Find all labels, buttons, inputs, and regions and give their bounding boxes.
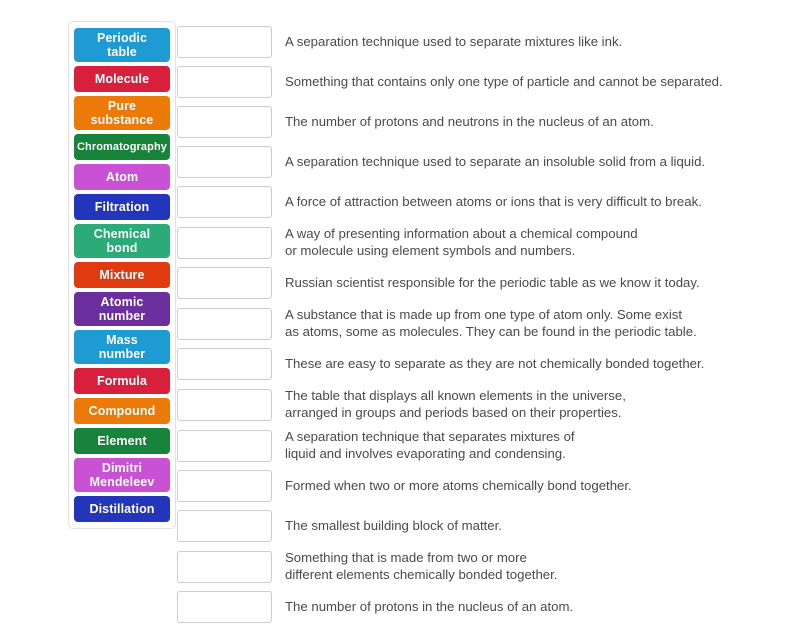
definition-text: A separation technique used to separate … [285, 34, 622, 51]
definition-text: The number of protons and neutrons in th… [285, 114, 654, 131]
definition-row: A substance that is made up from one typ… [177, 307, 777, 340]
answer-tile[interactable]: Atom [74, 164, 170, 190]
definition-text: A force of attraction between atoms or i… [285, 194, 702, 211]
definition-row: A separation technique used to separate … [177, 146, 777, 178]
answer-dropzone[interactable] [177, 430, 272, 462]
definition-row: These are easy to separate as they are n… [177, 348, 777, 380]
answer-tile[interactable]: Chemical bond [74, 224, 170, 258]
answer-dropzone[interactable] [177, 146, 272, 178]
answer-dropzone[interactable] [177, 308, 272, 340]
definition-row: A way of presenting information about a … [177, 226, 777, 259]
definition-text: These are easy to separate as they are n… [285, 356, 704, 373]
definition-text: Formed when two or more atoms chemically… [285, 478, 632, 495]
definition-rows-list: A separation technique used to separate … [177, 26, 777, 631]
definition-row: The table that displays all known elemen… [177, 388, 777, 421]
definition-text: Russian scientist responsible for the pe… [285, 275, 700, 292]
answer-dropzone[interactable] [177, 186, 272, 218]
definition-row: A force of attraction between atoms or i… [177, 186, 777, 218]
answer-dropzone[interactable] [177, 66, 272, 98]
answer-tile[interactable]: Element [74, 428, 170, 454]
definition-row: Something that contains only one type of… [177, 66, 777, 98]
definition-text: The table that displays all known elemen… [285, 388, 626, 421]
definition-text: A separation technique that separates mi… [285, 429, 575, 462]
answer-dropzone[interactable] [177, 348, 272, 380]
definition-text: The smallest building block of matter. [285, 518, 502, 535]
answer-dropzone[interactable] [177, 551, 272, 583]
definition-row: Russian scientist responsible for the pe… [177, 267, 777, 299]
answer-tile[interactable]: Chromatography [74, 134, 170, 160]
answer-tile[interactable]: Atomic number [74, 292, 170, 326]
answer-tile[interactable]: Pure substance [74, 96, 170, 130]
definition-row: The smallest building block of matter. [177, 510, 777, 542]
answer-tile[interactable]: Compound [74, 398, 170, 424]
answer-tile[interactable]: Mass number [74, 330, 170, 364]
definition-text: Something that contains only one type of… [285, 74, 723, 91]
definition-row: Formed when two or more atoms chemically… [177, 470, 777, 502]
answer-dropzone[interactable] [177, 267, 272, 299]
answer-tile[interactable]: Molecule [74, 66, 170, 92]
answer-tile[interactable]: Filtration [74, 194, 170, 220]
answer-tile[interactable]: Distillation [74, 496, 170, 522]
answer-tile[interactable]: Mixture [74, 262, 170, 288]
definition-text: A separation technique used to separate … [285, 154, 705, 171]
answer-dropzone[interactable] [177, 106, 272, 138]
definition-text: A substance that is made up from one typ… [285, 307, 697, 340]
definition-row: A separation technique used to separate … [177, 26, 777, 58]
answer-tile[interactable]: Periodic table [74, 28, 170, 62]
definition-row: Something that is made from two or more … [177, 550, 777, 583]
answer-dropzone[interactable] [177, 470, 272, 502]
answer-dropzone[interactable] [177, 591, 272, 623]
answer-dropzone[interactable] [177, 510, 272, 542]
definition-text: The number of protons in the nucleus of … [285, 599, 573, 616]
answer-dropzone[interactable] [177, 389, 272, 421]
match-up-activity: Periodic tableMoleculePure substanceChro… [0, 0, 800, 600]
definition-text: Something that is made from two or more … [285, 550, 557, 583]
answer-dropzone[interactable] [177, 26, 272, 58]
definition-text: A way of presenting information about a … [285, 226, 638, 259]
definition-row: A separation technique that separates mi… [177, 429, 777, 462]
answer-dropzone[interactable] [177, 227, 272, 259]
answer-tile[interactable]: Dimitri Mendeleev [74, 458, 170, 492]
answer-tile[interactable]: Formula [74, 368, 170, 394]
definition-row: The number of protons in the nucleus of … [177, 591, 777, 623]
definition-row: The number of protons and neutrons in th… [177, 106, 777, 138]
answer-tiles-panel: Periodic tableMoleculePure substanceChro… [68, 21, 176, 529]
